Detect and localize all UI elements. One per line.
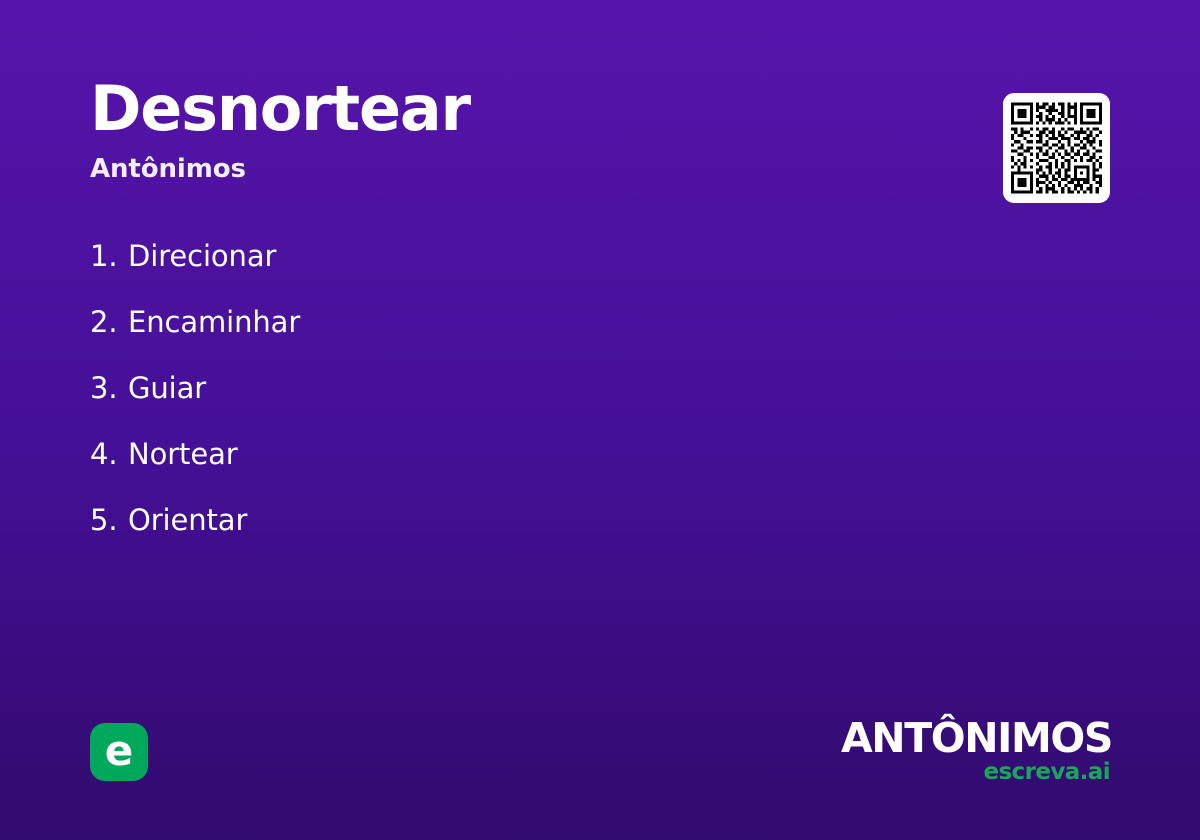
list-item-index: 2. xyxy=(90,302,128,342)
list-item-label: Guiar xyxy=(128,371,206,405)
brand-badge-letter: e xyxy=(105,730,134,772)
list-item-index: 1. xyxy=(90,236,128,276)
list-item: 3.Guiar xyxy=(90,368,850,434)
list-item: 1.Direcionar xyxy=(90,236,850,302)
header-block: Desnortear Antônimos xyxy=(90,78,790,184)
list-item-label: Direcionar xyxy=(128,239,276,273)
page-title: Desnortear xyxy=(90,78,790,140)
qr-code-card[interactable] xyxy=(1003,93,1110,203)
antonyms-list: 1.Direcionar 2.Encaminhar 3.Guiar 4.Nort… xyxy=(90,236,850,566)
list-item: 2.Encaminhar xyxy=(90,302,850,368)
list-item-label: Nortear xyxy=(128,437,238,471)
footer-logo: ANTÔNIMOS escreva.ai xyxy=(841,718,1112,784)
list-item-label: Encaminhar xyxy=(128,305,300,339)
footer-logo-title: ANTÔNIMOS xyxy=(841,718,1112,759)
page-subtitle: Antônimos xyxy=(90,154,790,184)
antonyms-card: Desnortear Antônimos xyxy=(0,0,1200,840)
qr-code-icon xyxy=(1011,100,1102,196)
list-item: 5.Orientar xyxy=(90,500,850,566)
footer-logo-subtitle: escreva.ai xyxy=(841,761,1110,784)
list-item-index: 5. xyxy=(90,500,128,540)
list-item-index: 4. xyxy=(90,434,128,474)
list-item: 4.Nortear xyxy=(90,434,850,500)
escreva-e-badge-icon[interactable]: e xyxy=(90,723,148,781)
list-item-label: Orientar xyxy=(128,503,247,537)
list-item-index: 3. xyxy=(90,368,128,408)
